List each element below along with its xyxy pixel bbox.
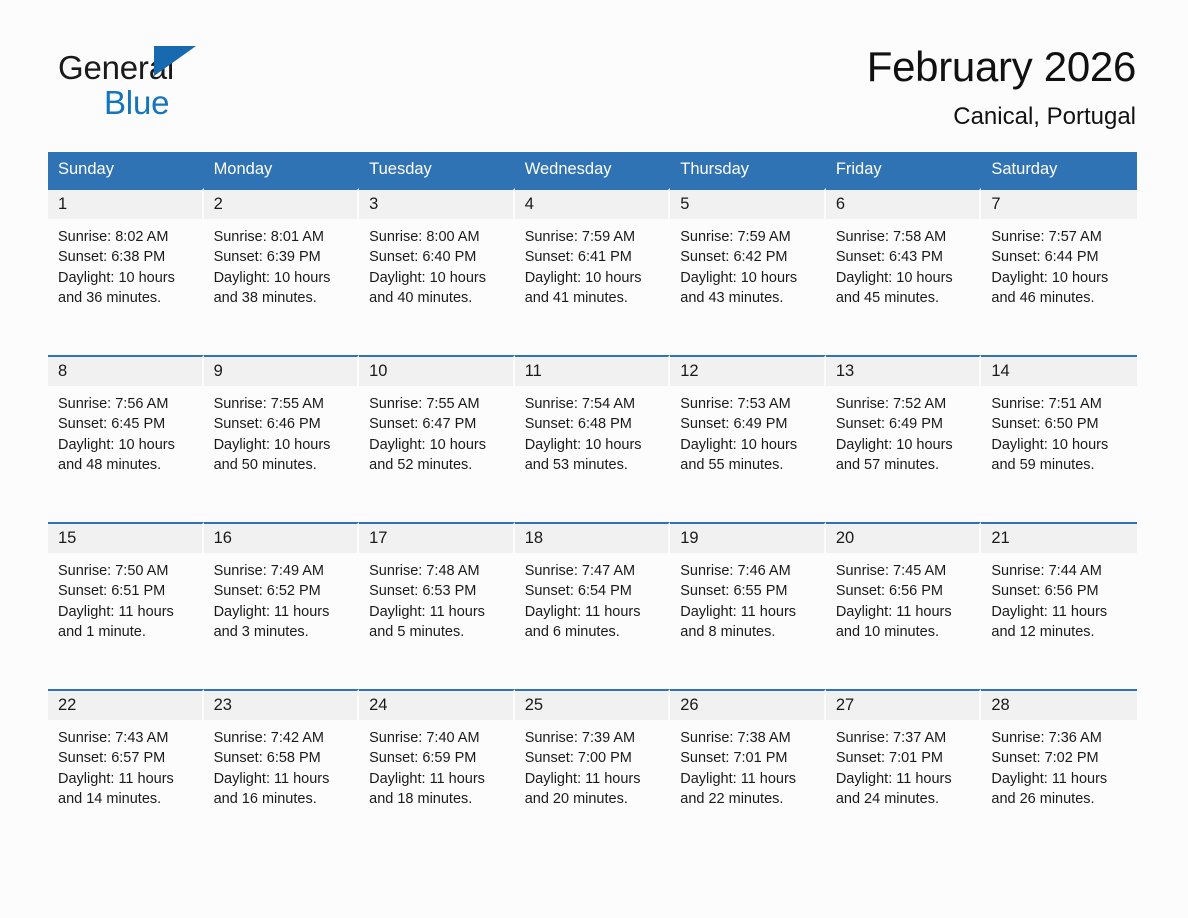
day-info: Sunrise: 7:40 AM Sunset: 6:59 PM Dayligh… (359, 720, 513, 809)
day-number: 23 (204, 691, 358, 720)
day-cell[interactable]: 5 Sunrise: 7:59 AM Sunset: 6:42 PM Dayli… (670, 188, 826, 355)
day-number: 24 (359, 691, 513, 720)
day-info: Sunrise: 7:48 AM Sunset: 6:53 PM Dayligh… (359, 553, 513, 642)
sunset-text: Sunset: 6:43 PM (836, 247, 972, 267)
day-cell[interactable]: 2 Sunrise: 8:01 AM Sunset: 6:39 PM Dayli… (204, 188, 360, 355)
daylight-text: Daylight: 11 hours and 20 minutes. (525, 769, 661, 809)
daylight-text: Daylight: 11 hours and 3 minutes. (214, 602, 350, 642)
day-cell[interactable]: 21 Sunrise: 7:44 AM Sunset: 6:56 PM Dayl… (981, 522, 1137, 689)
sunset-text: Sunset: 6:45 PM (58, 414, 194, 434)
day-info: Sunrise: 7:52 AM Sunset: 6:49 PM Dayligh… (826, 386, 980, 475)
day-number: 18 (515, 524, 669, 553)
day-info: Sunrise: 7:59 AM Sunset: 6:41 PM Dayligh… (515, 219, 669, 308)
day-cell[interactable]: 4 Sunrise: 7:59 AM Sunset: 6:41 PM Dayli… (515, 188, 671, 355)
daylight-text: Daylight: 11 hours and 12 minutes. (991, 602, 1129, 642)
page-title: February 2026 (867, 45, 1136, 90)
sunrise-text: Sunrise: 7:40 AM (369, 728, 505, 748)
calendar-page: General Blue February 2026 Canical, Port… (0, 0, 1188, 918)
day-cell[interactable]: 16 Sunrise: 7:49 AM Sunset: 6:52 PM Dayl… (204, 522, 360, 689)
day-number: 10 (359, 357, 513, 386)
daylight-text: Daylight: 11 hours and 16 minutes. (214, 769, 350, 809)
day-cell[interactable]: 27 Sunrise: 7:37 AM Sunset: 7:01 PM Dayl… (826, 689, 982, 856)
day-number: 28 (981, 691, 1137, 720)
sunrise-text: Sunrise: 7:49 AM (214, 561, 350, 581)
daylight-text: Daylight: 10 hours and 48 minutes. (58, 435, 194, 475)
day-info: Sunrise: 8:00 AM Sunset: 6:40 PM Dayligh… (359, 219, 513, 308)
sunrise-text: Sunrise: 7:55 AM (214, 394, 350, 414)
day-cell[interactable]: 26 Sunrise: 7:38 AM Sunset: 7:01 PM Dayl… (670, 689, 826, 856)
sunrise-text: Sunrise: 7:55 AM (369, 394, 505, 414)
generalblue-logo[interactable]: General Blue (58, 45, 318, 131)
daylight-text: Daylight: 11 hours and 14 minutes. (58, 769, 194, 809)
daylight-text: Daylight: 10 hours and 53 minutes. (525, 435, 661, 475)
calendar-week-row: 1 Sunrise: 8:02 AM Sunset: 6:38 PM Dayli… (48, 188, 1137, 355)
sunrise-text: Sunrise: 7:59 AM (525, 227, 661, 247)
sunset-text: Sunset: 7:01 PM (680, 748, 816, 768)
sunrise-text: Sunrise: 7:37 AM (836, 728, 972, 748)
day-number: 25 (515, 691, 669, 720)
day-cell[interactable]: 20 Sunrise: 7:45 AM Sunset: 6:56 PM Dayl… (826, 522, 982, 689)
sunset-text: Sunset: 6:40 PM (369, 247, 505, 267)
daylight-text: Daylight: 10 hours and 38 minutes. (214, 268, 350, 308)
calendar-header-row: Sunday Monday Tuesday Wednesday Thursday… (48, 152, 1137, 188)
weekday-header-sunday: Sunday (48, 152, 204, 188)
sunrise-text: Sunrise: 8:01 AM (214, 227, 350, 247)
day-number: 11 (515, 357, 669, 386)
daylight-text: Daylight: 10 hours and 41 minutes. (525, 268, 661, 308)
sunrise-text: Sunrise: 7:46 AM (680, 561, 816, 581)
weekday-header-thursday: Thursday (670, 152, 826, 188)
day-info: Sunrise: 7:42 AM Sunset: 6:58 PM Dayligh… (204, 720, 358, 809)
day-info: Sunrise: 8:02 AM Sunset: 6:38 PM Dayligh… (48, 219, 202, 308)
day-cell[interactable]: 6 Sunrise: 7:58 AM Sunset: 6:43 PM Dayli… (826, 188, 982, 355)
weekday-header-monday: Monday (204, 152, 360, 188)
day-info: Sunrise: 7:38 AM Sunset: 7:01 PM Dayligh… (670, 720, 824, 809)
day-cell[interactable]: 14 Sunrise: 7:51 AM Sunset: 6:50 PM Dayl… (981, 355, 1137, 522)
sunset-text: Sunset: 7:00 PM (525, 748, 661, 768)
day-info: Sunrise: 7:59 AM Sunset: 6:42 PM Dayligh… (670, 219, 824, 308)
sunrise-text: Sunrise: 7:39 AM (525, 728, 661, 748)
sunset-text: Sunset: 6:51 PM (58, 581, 194, 601)
day-cell[interactable]: 22 Sunrise: 7:43 AM Sunset: 6:57 PM Dayl… (48, 689, 204, 856)
day-cell[interactable]: 1 Sunrise: 8:02 AM Sunset: 6:38 PM Dayli… (48, 188, 204, 355)
weekday-header-friday: Friday (826, 152, 982, 188)
sunset-text: Sunset: 6:56 PM (836, 581, 972, 601)
calendar-body: 1 Sunrise: 8:02 AM Sunset: 6:38 PM Dayli… (48, 188, 1137, 856)
daylight-text: Daylight: 11 hours and 10 minutes. (836, 602, 972, 642)
day-number: 4 (515, 190, 669, 219)
sunrise-text: Sunrise: 7:57 AM (991, 227, 1129, 247)
sunset-text: Sunset: 6:49 PM (680, 414, 816, 434)
day-cell[interactable]: 10 Sunrise: 7:55 AM Sunset: 6:47 PM Dayl… (359, 355, 515, 522)
sunrise-text: Sunrise: 7:38 AM (680, 728, 816, 748)
weekday-header-saturday: Saturday (981, 152, 1137, 188)
sunset-text: Sunset: 6:46 PM (214, 414, 350, 434)
day-cell[interactable]: 9 Sunrise: 7:55 AM Sunset: 6:46 PM Dayli… (204, 355, 360, 522)
day-number: 14 (981, 357, 1137, 386)
daylight-text: Daylight: 11 hours and 1 minute. (58, 602, 194, 642)
calendar-table: Sunday Monday Tuesday Wednesday Thursday… (48, 152, 1137, 856)
day-info: Sunrise: 7:51 AM Sunset: 6:50 PM Dayligh… (981, 386, 1137, 475)
sunrise-text: Sunrise: 7:43 AM (58, 728, 194, 748)
calendar-week-row: 8 Sunrise: 7:56 AM Sunset: 6:45 PM Dayli… (48, 355, 1137, 522)
day-number: 8 (48, 357, 202, 386)
daylight-text: Daylight: 10 hours and 50 minutes. (214, 435, 350, 475)
sunset-text: Sunset: 6:39 PM (214, 247, 350, 267)
daylight-text: Daylight: 10 hours and 45 minutes. (836, 268, 972, 308)
day-number: 16 (204, 524, 358, 553)
day-number: 3 (359, 190, 513, 219)
daylight-text: Daylight: 11 hours and 18 minutes. (369, 769, 505, 809)
day-cell[interactable]: 8 Sunrise: 7:56 AM Sunset: 6:45 PM Dayli… (48, 355, 204, 522)
day-info: Sunrise: 7:46 AM Sunset: 6:55 PM Dayligh… (670, 553, 824, 642)
day-number: 5 (670, 190, 824, 219)
sunset-text: Sunset: 6:44 PM (991, 247, 1129, 267)
daylight-text: Daylight: 10 hours and 40 minutes. (369, 268, 505, 308)
day-number: 22 (48, 691, 202, 720)
day-number: 9 (204, 357, 358, 386)
weekday-header-tuesday: Tuesday (359, 152, 515, 188)
sunset-text: Sunset: 6:56 PM (991, 581, 1129, 601)
sunset-text: Sunset: 7:01 PM (836, 748, 972, 768)
day-number: 7 (981, 190, 1137, 219)
day-number: 12 (670, 357, 824, 386)
day-number: 17 (359, 524, 513, 553)
day-cell[interactable]: 3 Sunrise: 8:00 AM Sunset: 6:40 PM Dayli… (359, 188, 515, 355)
calendar-container: Sunday Monday Tuesday Wednesday Thursday… (48, 152, 1137, 856)
sunrise-text: Sunrise: 7:52 AM (836, 394, 972, 414)
daylight-text: Daylight: 11 hours and 6 minutes. (525, 602, 661, 642)
day-number: 26 (670, 691, 824, 720)
day-info: Sunrise: 7:36 AM Sunset: 7:02 PM Dayligh… (981, 720, 1137, 809)
day-number: 2 (204, 190, 358, 219)
day-number: 15 (48, 524, 202, 553)
day-info: Sunrise: 7:47 AM Sunset: 6:54 PM Dayligh… (515, 553, 669, 642)
sunrise-text: Sunrise: 7:42 AM (214, 728, 350, 748)
sunrise-text: Sunrise: 8:00 AM (369, 227, 505, 247)
sunrise-text: Sunrise: 7:59 AM (680, 227, 816, 247)
sunset-text: Sunset: 7:02 PM (991, 748, 1129, 768)
sunrise-text: Sunrise: 7:54 AM (525, 394, 661, 414)
day-cell[interactable]: 7 Sunrise: 7:57 AM Sunset: 6:44 PM Dayli… (981, 188, 1137, 355)
sunrise-text: Sunrise: 7:58 AM (836, 227, 972, 247)
sunset-text: Sunset: 6:54 PM (525, 581, 661, 601)
day-info: Sunrise: 7:53 AM Sunset: 6:49 PM Dayligh… (670, 386, 824, 475)
day-cell[interactable]: 15 Sunrise: 7:50 AM Sunset: 6:51 PM Dayl… (48, 522, 204, 689)
day-info: Sunrise: 7:54 AM Sunset: 6:48 PM Dayligh… (515, 386, 669, 475)
day-number: 19 (670, 524, 824, 553)
day-cell[interactable]: 25 Sunrise: 7:39 AM Sunset: 7:00 PM Dayl… (515, 689, 671, 856)
day-info: Sunrise: 7:37 AM Sunset: 7:01 PM Dayligh… (826, 720, 980, 809)
day-cell[interactable]: 28 Sunrise: 7:36 AM Sunset: 7:02 PM Dayl… (981, 689, 1137, 856)
sunrise-text: Sunrise: 7:45 AM (836, 561, 972, 581)
daylight-text: Daylight: 11 hours and 8 minutes. (680, 602, 816, 642)
day-info: Sunrise: 7:50 AM Sunset: 6:51 PM Dayligh… (48, 553, 202, 642)
calendar-week-row: 22 Sunrise: 7:43 AM Sunset: 6:57 PM Dayl… (48, 689, 1137, 856)
page-subtitle-location: Canical, Portugal (867, 104, 1136, 130)
day-info: Sunrise: 7:49 AM Sunset: 6:52 PM Dayligh… (204, 553, 358, 642)
sunset-text: Sunset: 6:53 PM (369, 581, 505, 601)
page-header: General Blue February 2026 Canical, Port… (0, 0, 1188, 131)
logo-triangle-icon (154, 46, 196, 76)
sunrise-text: Sunrise: 8:02 AM (58, 227, 194, 247)
day-info: Sunrise: 7:43 AM Sunset: 6:57 PM Dayligh… (48, 720, 202, 809)
sunset-text: Sunset: 6:47 PM (369, 414, 505, 434)
day-number: 13 (826, 357, 980, 386)
day-info: Sunrise: 7:56 AM Sunset: 6:45 PM Dayligh… (48, 386, 202, 475)
sunset-text: Sunset: 6:57 PM (58, 748, 194, 768)
logo-text-blue: Blue (104, 86, 318, 119)
day-info: Sunrise: 7:58 AM Sunset: 6:43 PM Dayligh… (826, 219, 980, 308)
day-info: Sunrise: 7:44 AM Sunset: 6:56 PM Dayligh… (981, 553, 1137, 642)
sunset-text: Sunset: 6:55 PM (680, 581, 816, 601)
sunrise-text: Sunrise: 7:48 AM (369, 561, 505, 581)
day-number: 1 (48, 190, 202, 219)
sunset-text: Sunset: 6:59 PM (369, 748, 505, 768)
sunset-text: Sunset: 6:48 PM (525, 414, 661, 434)
day-info: Sunrise: 7:55 AM Sunset: 6:47 PM Dayligh… (359, 386, 513, 475)
weekday-header-wednesday: Wednesday (515, 152, 671, 188)
day-cell[interactable]: 23 Sunrise: 7:42 AM Sunset: 6:58 PM Dayl… (204, 689, 360, 856)
sunset-text: Sunset: 6:49 PM (836, 414, 972, 434)
daylight-text: Daylight: 10 hours and 46 minutes. (991, 268, 1129, 308)
day-cell[interactable]: 11 Sunrise: 7:54 AM Sunset: 6:48 PM Dayl… (515, 355, 671, 522)
daylight-text: Daylight: 10 hours and 36 minutes. (58, 268, 194, 308)
sunrise-text: Sunrise: 7:51 AM (991, 394, 1129, 414)
daylight-text: Daylight: 10 hours and 59 minutes. (991, 435, 1129, 475)
daylight-text: Daylight: 11 hours and 26 minutes. (991, 769, 1129, 809)
sunset-text: Sunset: 6:58 PM (214, 748, 350, 768)
sunset-text: Sunset: 6:38 PM (58, 247, 194, 267)
day-cell[interactable]: 18 Sunrise: 7:47 AM Sunset: 6:54 PM Dayl… (515, 522, 671, 689)
day-number: 20 (826, 524, 980, 553)
sunset-text: Sunset: 6:41 PM (525, 247, 661, 267)
daylight-text: Daylight: 10 hours and 55 minutes. (680, 435, 816, 475)
calendar-week-row: 15 Sunrise: 7:50 AM Sunset: 6:51 PM Dayl… (48, 522, 1137, 689)
daylight-text: Daylight: 11 hours and 5 minutes. (369, 602, 505, 642)
sunrise-text: Sunrise: 7:50 AM (58, 561, 194, 581)
day-info: Sunrise: 8:01 AM Sunset: 6:39 PM Dayligh… (204, 219, 358, 308)
day-info: Sunrise: 7:39 AM Sunset: 7:00 PM Dayligh… (515, 720, 669, 809)
sunset-text: Sunset: 6:50 PM (991, 414, 1129, 434)
sunrise-text: Sunrise: 7:53 AM (680, 394, 816, 414)
day-cell[interactable]: 12 Sunrise: 7:53 AM Sunset: 6:49 PM Dayl… (670, 355, 826, 522)
day-cell[interactable]: 24 Sunrise: 7:40 AM Sunset: 6:59 PM Dayl… (359, 689, 515, 856)
sunset-text: Sunset: 6:42 PM (680, 247, 816, 267)
sunset-text: Sunset: 6:52 PM (214, 581, 350, 601)
sunrise-text: Sunrise: 7:44 AM (991, 561, 1129, 581)
day-cell[interactable]: 13 Sunrise: 7:52 AM Sunset: 6:49 PM Dayl… (826, 355, 982, 522)
daylight-text: Daylight: 10 hours and 43 minutes. (680, 268, 816, 308)
title-block: February 2026 Canical, Portugal (867, 45, 1136, 130)
day-number: 27 (826, 691, 980, 720)
daylight-text: Daylight: 10 hours and 52 minutes. (369, 435, 505, 475)
daylight-text: Daylight: 11 hours and 22 minutes. (680, 769, 816, 809)
day-cell[interactable]: 19 Sunrise: 7:46 AM Sunset: 6:55 PM Dayl… (670, 522, 826, 689)
day-number: 21 (981, 524, 1137, 553)
day-info: Sunrise: 7:55 AM Sunset: 6:46 PM Dayligh… (204, 386, 358, 475)
day-cell[interactable]: 17 Sunrise: 7:48 AM Sunset: 6:53 PM Dayl… (359, 522, 515, 689)
sunrise-text: Sunrise: 7:36 AM (991, 728, 1129, 748)
daylight-text: Daylight: 11 hours and 24 minutes. (836, 769, 972, 809)
day-number: 6 (826, 190, 980, 219)
sunrise-text: Sunrise: 7:47 AM (525, 561, 661, 581)
sunrise-text: Sunrise: 7:56 AM (58, 394, 194, 414)
daylight-text: Daylight: 10 hours and 57 minutes. (836, 435, 972, 475)
day-info: Sunrise: 7:57 AM Sunset: 6:44 PM Dayligh… (981, 219, 1137, 308)
day-info: Sunrise: 7:45 AM Sunset: 6:56 PM Dayligh… (826, 553, 980, 642)
